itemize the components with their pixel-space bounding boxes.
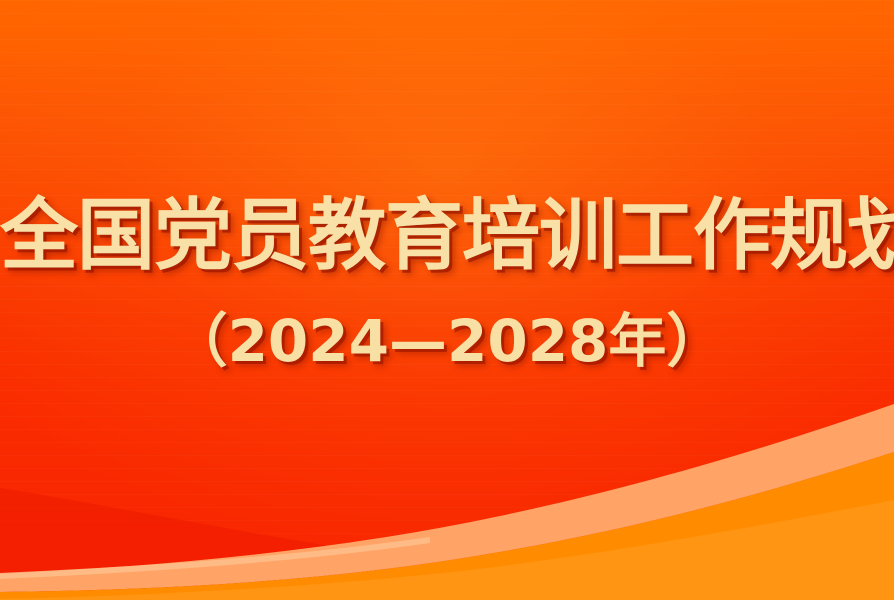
- peach-highlight-line-shape: [0, 537, 430, 579]
- orange-curve-band-shape: [0, 452, 894, 600]
- dark-red-swoosh-shape: [0, 488, 894, 600]
- poster-banner: 全国党员教育培训工作规划 （2024—2028年）: [0, 0, 894, 600]
- page-title: 全国党员教育培训工作规划: [0, 186, 894, 286]
- orange-inner-curve-shape: [0, 500, 894, 600]
- title-block: 全国党员教育培训工作规划 （2024—2028年）: [0, 186, 894, 374]
- peach-curve-band-shape: [0, 404, 894, 592]
- page-subtitle-period: （2024—2028年）: [0, 308, 894, 374]
